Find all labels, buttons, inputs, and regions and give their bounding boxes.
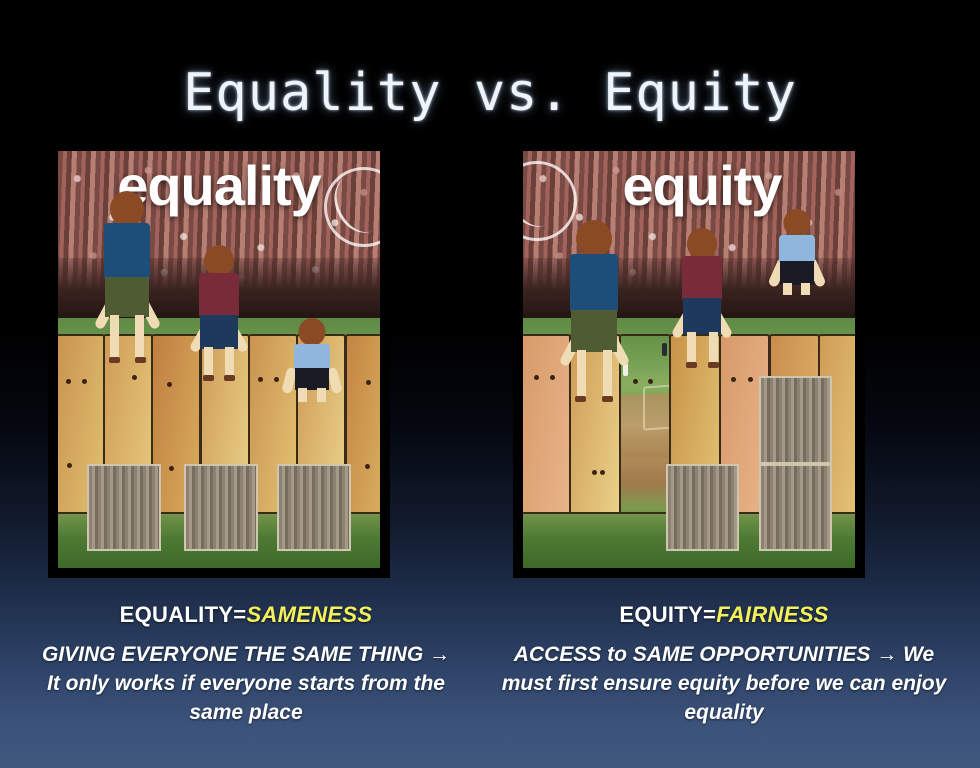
shoe <box>708 362 719 368</box>
shorts <box>295 368 329 390</box>
crate <box>759 376 832 464</box>
torso <box>294 344 330 370</box>
leg <box>298 388 307 402</box>
caption-term: EQUITY= <box>619 602 716 627</box>
leg <box>687 332 696 364</box>
caption-equity: EQUITY=FAIRNESS ACCESS to SAME OPPORTUNI… <box>500 600 948 727</box>
person-medium <box>672 226 732 468</box>
leg <box>204 347 213 377</box>
caption-definition: FAIRNESS <box>716 602 828 627</box>
head <box>299 318 326 346</box>
person-short <box>283 318 341 468</box>
caption-equality: EQUALITY=SAMENESS GIVING EVERYONE THE SA… <box>36 600 456 727</box>
crate <box>759 464 832 552</box>
head <box>576 220 612 258</box>
leg <box>709 332 718 364</box>
person-medium <box>190 243 248 468</box>
shoe <box>109 357 120 363</box>
leg <box>135 315 144 359</box>
shorts <box>571 310 617 352</box>
caption-term: EQUALITY= <box>120 602 247 627</box>
caption-heading-equality: EQUALITY=SAMENESS <box>36 600 456 630</box>
shoe <box>575 396 586 402</box>
shoe <box>224 375 235 381</box>
torso <box>779 235 815 263</box>
shorts <box>200 315 238 349</box>
person-short <box>769 209 825 376</box>
crate <box>184 464 258 552</box>
caption-body-equality: GIVING EVERYONE THE SAME THING → It only… <box>36 640 456 727</box>
person-tall <box>97 189 158 468</box>
head <box>110 191 144 227</box>
shoe <box>602 396 613 402</box>
overlay-word-equity: equity <box>523 155 855 217</box>
leg <box>603 350 612 398</box>
torso <box>570 254 618 312</box>
shoe <box>135 357 146 363</box>
leg <box>801 283 810 295</box>
shorts <box>105 277 149 317</box>
page-title: Equality vs. Equity <box>0 62 980 124</box>
crate <box>666 464 739 552</box>
caption-definition: SAMENESS <box>246 602 372 627</box>
person-tall <box>563 218 626 552</box>
equity-scene: equity <box>523 151 855 568</box>
caption-heading-equity: EQUITY=FAIRNESS <box>500 600 948 630</box>
torso <box>682 256 722 300</box>
torso <box>104 223 150 279</box>
leg <box>783 283 792 295</box>
leg <box>225 347 234 377</box>
shorts <box>780 261 814 285</box>
leg <box>317 388 326 402</box>
head <box>783 209 810 237</box>
slide-root: Equality vs. Equity equality <box>0 0 980 768</box>
crate <box>87 464 161 552</box>
torso <box>199 273 239 317</box>
shoe <box>203 375 214 381</box>
equality-scene: equality <box>58 151 380 568</box>
leg <box>577 350 586 398</box>
illustration-panel-equity: equity <box>513 142 865 578</box>
caption-body-equity: ACCESS to SAME OPPORTUNITIES → We must f… <box>500 640 948 727</box>
shorts <box>683 298 721 334</box>
leg <box>110 315 119 359</box>
crate <box>277 464 351 552</box>
illustration-panel-equality: equality <box>48 142 390 578</box>
shoe <box>686 362 697 368</box>
